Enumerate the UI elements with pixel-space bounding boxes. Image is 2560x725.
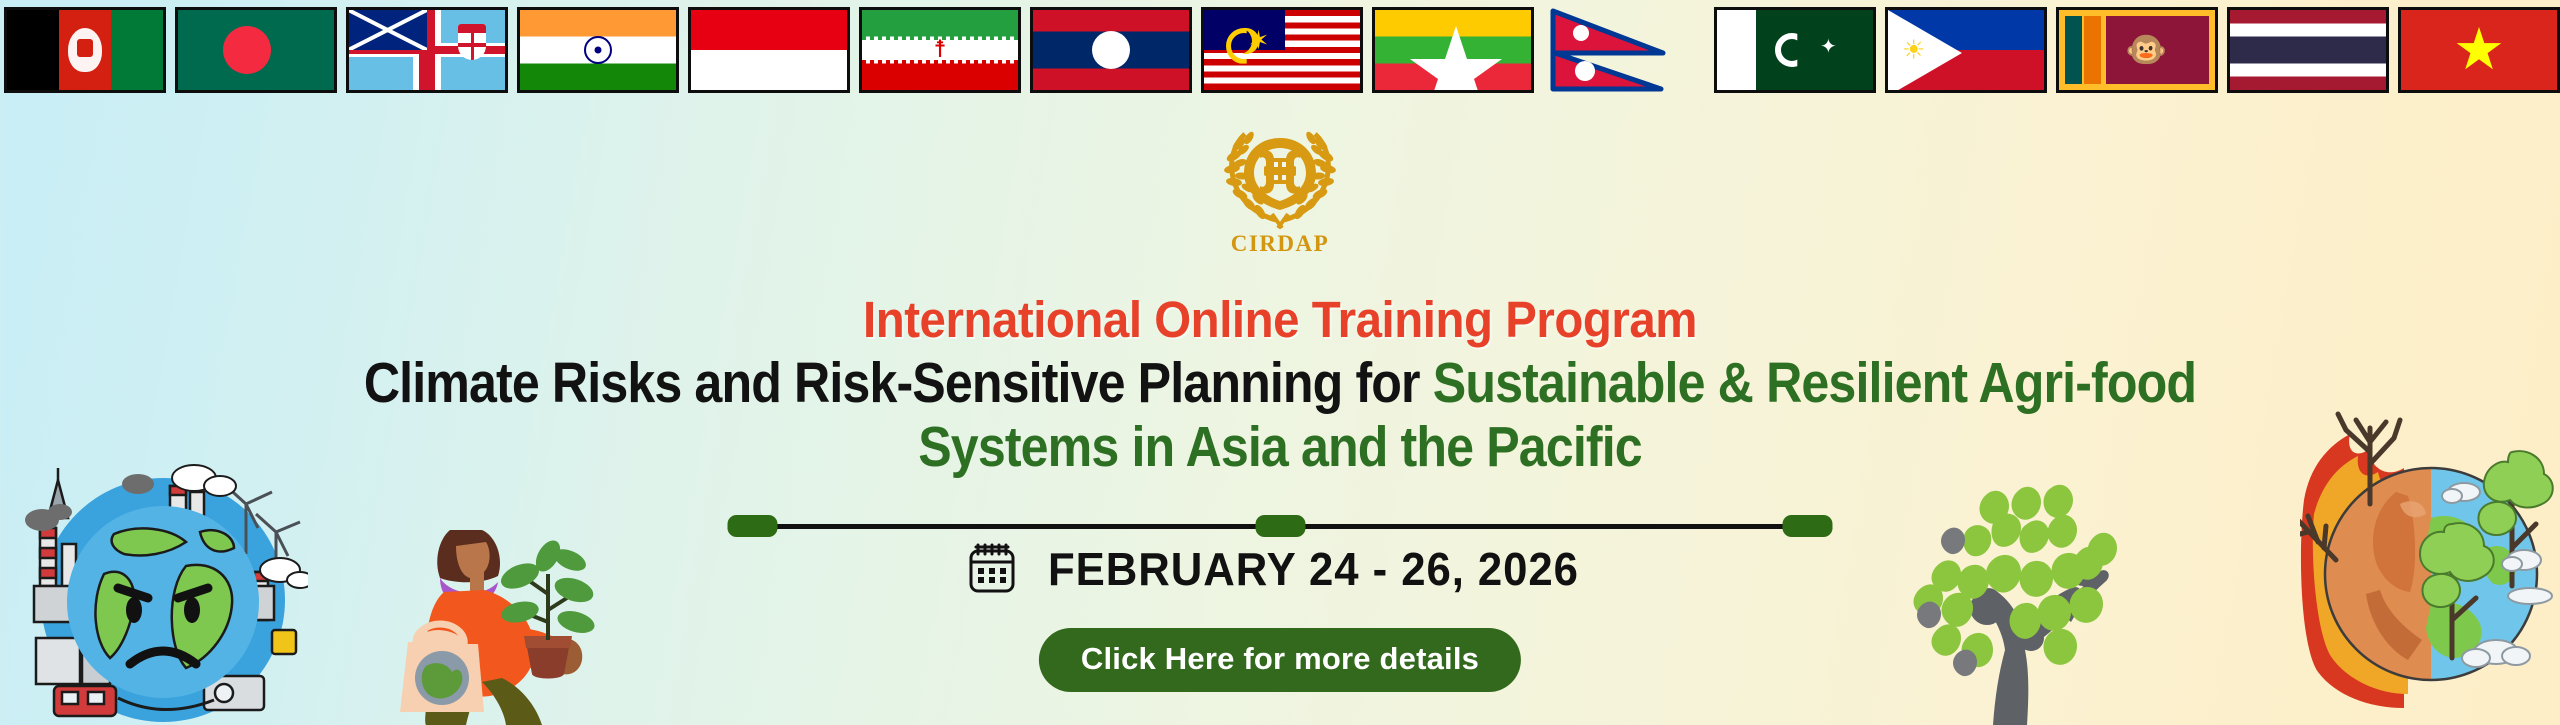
split-earth-illustration — [2300, 408, 2560, 725]
flag-malaysia: ✶ — [1201, 7, 1363, 93]
timeline-divider — [728, 515, 1833, 537]
flag-myanmar — [1372, 7, 1534, 93]
flag-fiji — [346, 7, 508, 93]
title-part-green-2: Systems in Asia and the Pacific — [918, 415, 1642, 479]
calendar-icon — [968, 543, 1016, 595]
woman-with-plant-illustration — [378, 530, 613, 725]
flag-indonesia — [688, 7, 850, 93]
page-title: Climate Risks and Risk-Sensitive Plannin… — [154, 352, 2407, 480]
divider-node-center — [1255, 515, 1305, 537]
sad-polluted-earth-illustration — [18, 462, 308, 725]
flag-iran: ☨ — [859, 7, 1021, 93]
flag-philippines: ☀ — [1885, 7, 2047, 93]
divider-node-left — [728, 515, 778, 537]
flag-pakistan: ✦ — [1714, 7, 1876, 93]
flag-laos — [1030, 7, 1192, 93]
cirdap-logo-label: CIRDAP — [1180, 231, 1380, 257]
divider-node-right — [1783, 515, 1833, 537]
event-date-text: FEBRUARY 24 - 26, 2026 — [1048, 542, 1579, 596]
cirdap-logo: CIRDAP — [1180, 118, 1380, 257]
flag-bangladesh — [175, 7, 337, 93]
title-part-black: Climate Risks and Risk-Sensitive Plannin… — [364, 351, 1420, 415]
flag-sri-lanka: 🐵 — [2056, 7, 2218, 93]
flag-afghanistan — [4, 7, 166, 93]
laurel-wreath-emblem-icon — [1214, 118, 1346, 230]
click-here-for-more-details-button[interactable]: Click Here for more details — [1039, 628, 1521, 692]
title-part-green-1: Sustainable & Resilient Agri-food — [1433, 351, 2196, 415]
flag-thailand — [2227, 7, 2389, 93]
program-eyebrow: International Online Training Program — [90, 290, 2471, 349]
flag-vietnam: ★ — [2398, 7, 2560, 93]
flag-nepal — [1543, 7, 1705, 93]
flag-india — [517, 7, 679, 93]
flag-strip: ☨ ✶ ✦ ☀ 🐵 ★ — [0, 0, 2560, 100]
people-tree-illustration — [1895, 472, 2125, 725]
